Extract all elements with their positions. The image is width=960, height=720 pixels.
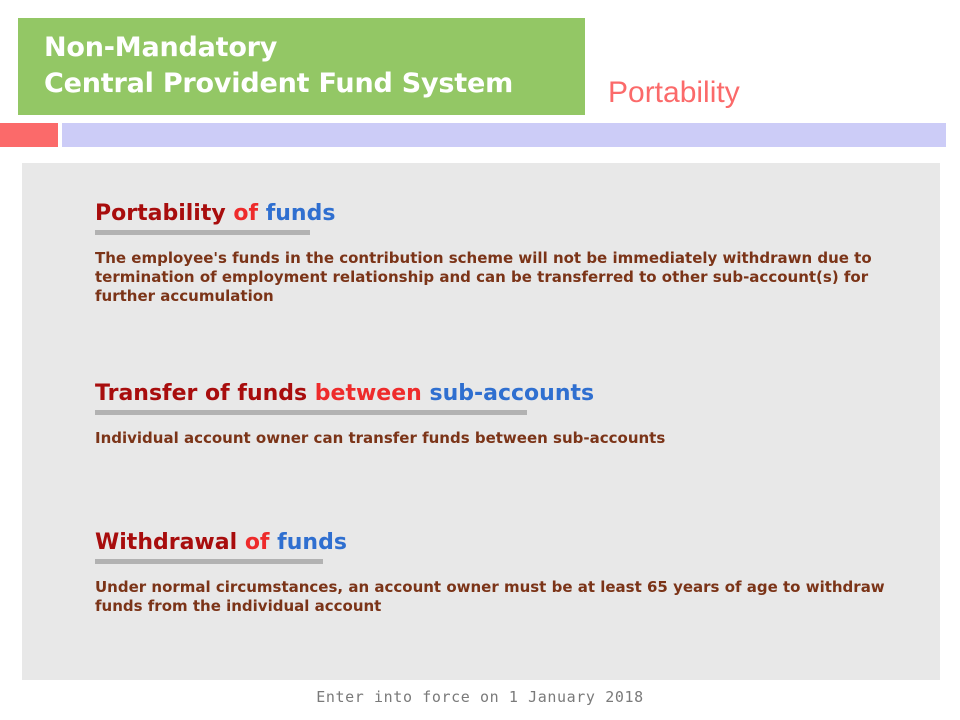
heading-segment-connector: of <box>233 201 265 226</box>
heading-rule-portability <box>95 230 310 235</box>
title-line-1: Non-Mandatory <box>44 30 585 66</box>
section-heading-withdrawal: Withdrawal of funds <box>95 530 895 556</box>
heading-segment-accent: funds <box>266 201 336 226</box>
heading-segment-primary: Transfer of funds <box>95 381 315 406</box>
heading-segment-primary: Withdrawal <box>95 530 245 555</box>
accent-bar <box>62 123 946 147</box>
footer-note: Enter into force on 1 January 2018 <box>0 688 960 706</box>
heading-segment-primary: Portability <box>95 201 233 226</box>
section-heading-transfer: Transfer of funds between sub-accounts <box>95 381 895 407</box>
section-body-portability: The employee's funds in the contribution… <box>95 249 885 306</box>
section-body-transfer: Individual account owner can transfer fu… <box>95 429 885 448</box>
heading-segment-connector: of <box>245 530 277 555</box>
heading-segment-accent: funds <box>277 530 347 555</box>
title-line-2: Central Provident Fund System <box>44 66 585 102</box>
section-withdrawal: Withdrawal of funds Under normal circums… <box>95 530 895 616</box>
section-body-withdrawal: Under normal circumstances, an account o… <box>95 578 885 616</box>
heading-segment-accent: sub-accounts <box>429 381 594 406</box>
section-transfer: Transfer of funds between sub-accounts I… <box>95 381 895 448</box>
title-block: Non-Mandatory Central Provident Fund Sys… <box>18 18 585 115</box>
heading-rule-withdrawal <box>95 559 323 564</box>
slide-header: Non-Mandatory Central Provident Fund Sys… <box>0 0 960 155</box>
heading-rule-transfer <box>95 410 527 415</box>
content-panel: Portability of funds The employee's fund… <box>22 163 940 680</box>
heading-segment-connector: between <box>315 381 430 406</box>
section-heading-portability: Portability of funds <box>95 201 895 227</box>
section-label: Portability <box>608 76 740 110</box>
section-portability: Portability of funds The employee's fund… <box>95 201 895 306</box>
accent-red-block <box>0 123 58 147</box>
